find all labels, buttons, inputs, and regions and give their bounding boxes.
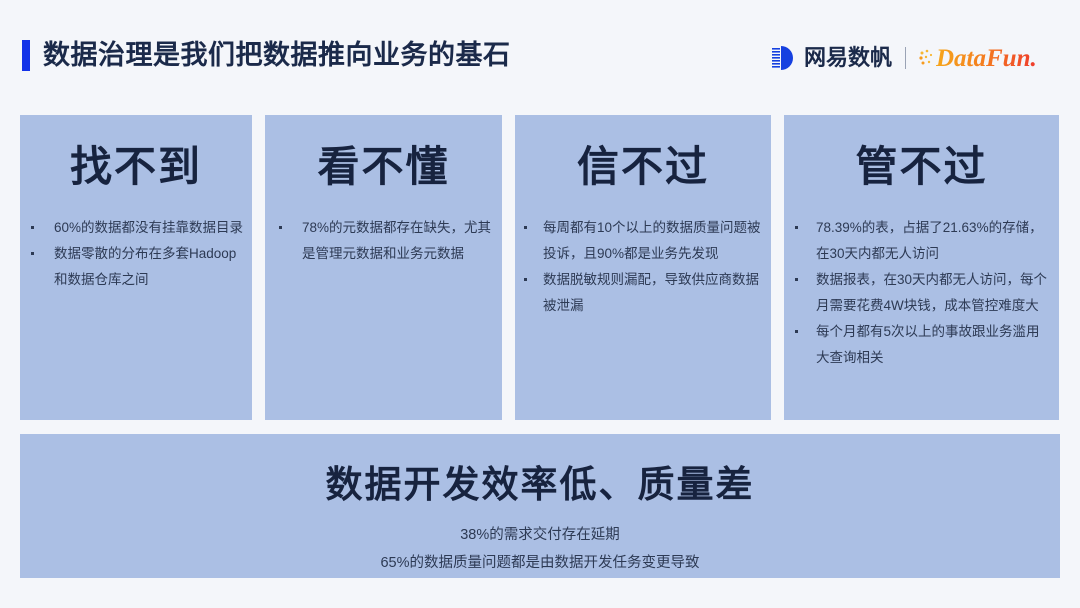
bullet-text: 78%的元数据都存在缺失，尤其是管理元数据和业务元数据	[302, 220, 491, 261]
datafun-wordmark: DataFun.	[936, 44, 1056, 72]
card-heading: 管不过	[784, 146, 1059, 188]
bullet-dot-icon	[795, 226, 798, 229]
bullet-text: 数据脱敏规则漏配，导致供应商数据被泄漏	[543, 272, 759, 313]
card-guanbuguo: 管不过 78.39%的表，占据了21.63%的存储，在30天内都无人访问 数据报…	[784, 115, 1059, 420]
list-item: 数据报表，在30天内都无人访问，每个月需要花费4W块钱，成本管控难度大	[784, 267, 1059, 319]
banner-subline-2: 65%的数据质量问题都是由数据开发任务变更导致	[20, 549, 1060, 577]
netease-logo: 网易数帆	[771, 45, 892, 71]
netease-mark-icon	[771, 45, 797, 71]
bullet-text: 78.39%的表，占据了21.63%的存储，在30天内都无人访问	[816, 220, 1043, 261]
page-title-group: 数据治理是我们把数据推向业务的基石	[22, 40, 511, 71]
list-item: 78.39%的表，占据了21.63%的存储，在30天内都无人访问	[784, 215, 1059, 267]
bullet-dot-icon	[524, 226, 527, 229]
page-header: 数据治理是我们把数据推向业务的基石 网易数帆	[0, 0, 1080, 98]
problem-cards: 找不到 60%的数据都没有挂靠数据目录 数据零散的分布在多套Hadoop和数据仓…	[20, 115, 1060, 420]
datafun-dots-icon	[919, 47, 935, 69]
list-item: 数据脱敏规则漏配，导致供应商数据被泄漏	[515, 267, 771, 319]
bullet-text: 60%的数据都没有挂靠数据目录	[54, 220, 243, 235]
bullet-dot-icon	[795, 330, 798, 333]
bullet-dot-icon	[524, 278, 527, 281]
list-item: 数据零散的分布在多套Hadoop和数据仓库之间	[20, 241, 252, 293]
card-bullet-list: 78.39%的表，占据了21.63%的存储，在30天内都无人访问 数据报表，在3…	[784, 215, 1059, 371]
banner-subline-1: 38%的需求交付存在延期	[20, 521, 1060, 549]
bullet-dot-icon	[279, 226, 282, 229]
card-heading: 找不到	[20, 146, 252, 188]
list-item: 每周都有10个以上的数据质量问题被投诉，且90%都是业务先发现	[515, 215, 771, 267]
bullet-dot-icon	[31, 226, 34, 229]
logo-divider	[905, 47, 906, 69]
card-bullet-list: 78%的元数据都存在缺失，尤其是管理元数据和业务元数据	[265, 215, 502, 267]
bullet-text: 每个月都有5次以上的事故跟业务滥用大查询相关	[816, 324, 1040, 365]
logo-group: 网易数帆 DataFun	[771, 41, 1056, 75]
card-heading: 看不懂	[265, 146, 502, 188]
summary-banner: 数据开发效率低、质量差 38%的需求交付存在延期 65%的数据质量问题都是由数据…	[20, 434, 1060, 578]
card-zhaobudao: 找不到 60%的数据都没有挂靠数据目录 数据零散的分布在多套Hadoop和数据仓…	[20, 115, 252, 420]
list-item: 60%的数据都没有挂靠数据目录	[20, 215, 252, 241]
datafun-logo: DataFun.	[919, 44, 1056, 72]
card-kanbudong: 看不懂 78%的元数据都存在缺失，尤其是管理元数据和业务元数据	[265, 115, 502, 420]
bullet-text: 每周都有10个以上的数据质量问题被投诉，且90%都是业务先发现	[543, 220, 761, 261]
card-heading: 信不过	[515, 146, 771, 188]
bullet-dot-icon	[31, 252, 34, 255]
card-xinbuguo: 信不过 每周都有10个以上的数据质量问题被投诉，且90%都是业务先发现 数据脱敏…	[515, 115, 771, 420]
bullet-text: 数据报表，在30天内都无人访问，每个月需要花费4W块钱，成本管控难度大	[816, 272, 1047, 313]
page-title: 数据治理是我们把数据推向业务的基石	[43, 42, 511, 69]
bullet-text: 数据零散的分布在多套Hadoop和数据仓库之间	[54, 246, 236, 287]
list-item: 每个月都有5次以上的事故跟业务滥用大查询相关	[784, 319, 1059, 371]
svg-text:DataFun.: DataFun.	[936, 45, 1037, 72]
bullet-dot-icon	[795, 278, 798, 281]
card-bullet-list: 60%的数据都没有挂靠数据目录 数据零散的分布在多套Hadoop和数据仓库之间	[20, 215, 252, 293]
netease-logo-text: 网易数帆	[804, 47, 892, 69]
card-bullet-list: 每周都有10个以上的数据质量问题被投诉，且90%都是业务先发现 数据脱敏规则漏配…	[515, 215, 771, 319]
title-accent-bar	[22, 40, 30, 71]
list-item: 78%的元数据都存在缺失，尤其是管理元数据和业务元数据	[265, 215, 502, 267]
banner-heading: 数据开发效率低、质量差	[20, 434, 1060, 507]
